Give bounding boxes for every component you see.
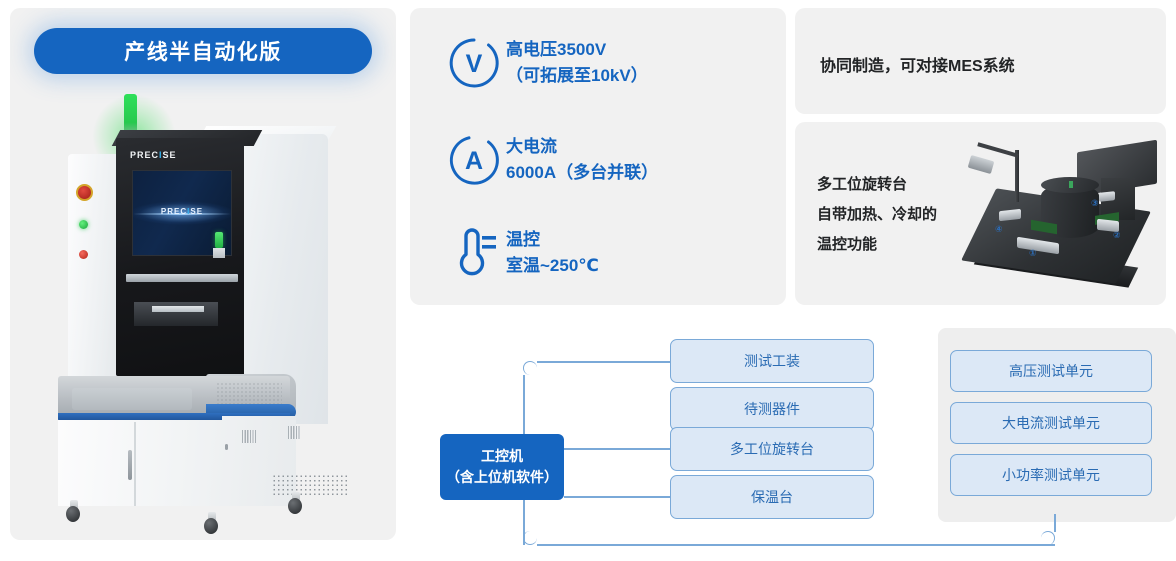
machine-inner-stage (134, 302, 218, 326)
system-architecture-diagram: 工控机 （含上位机软件） 测试工装 待测器件 多工位旋转台 保温台 高压测试单元… (420, 320, 1176, 561)
caster-wheel-disc (204, 518, 218, 534)
caster-wheel (288, 492, 302, 514)
spec-temp-line1: 温控 (506, 227, 599, 253)
node-low-power-unit[interactable]: 小功率测试单元 (950, 454, 1152, 496)
machine-illustration: PRECISE PRECISE (10, 86, 396, 540)
node-test-fixture[interactable]: 测试工装 (670, 339, 874, 383)
callout-4: ④ (995, 224, 1003, 235)
brand-text-top: PRECISE (130, 150, 177, 160)
node-root-line2: （含上位机软件） (446, 467, 558, 488)
spec-row-temperature: 温控 室温~250℃ (442, 226, 599, 280)
machine-brand-logo: PRECISE (130, 150, 177, 160)
product-title-banner: 产线半自动化版 (34, 28, 372, 74)
rotary-line3: 温控功能 (817, 230, 937, 260)
product-title: 产线半自动化版 (124, 36, 282, 66)
emergency-stop-button[interactable] (76, 184, 93, 201)
node-thermal-stage[interactable]: 保温台 (670, 475, 874, 519)
spec-text-temperature: 温控 室温~250℃ (506, 227, 599, 279)
rotary-stage-text: 多工位旋转台 自带加热、冷却的 温控功能 (817, 170, 937, 260)
wire-branch-units (537, 544, 1055, 546)
cabinet-door-seam (134, 422, 136, 506)
spec-row-voltage: V 高电压3500V （可拓展至10kV） (442, 36, 648, 90)
spec-text-voltage: 高电压3500V （可拓展至10kV） (506, 37, 648, 89)
test-fixture-3 (1099, 191, 1115, 202)
wire-corner-units (1041, 531, 1055, 545)
screen-brand-text: PRECISE (133, 207, 231, 216)
ammeter-circle-a-icon: A (442, 133, 506, 187)
thermometer-icon (442, 226, 506, 280)
cabinet-door-handle[interactable] (128, 450, 132, 480)
mes-text: 协同制造，可对接MES系统 (820, 52, 1015, 76)
product-panel: 产线半自动化版 PRECISE PRECISE (10, 8, 396, 540)
camera-arm-top (977, 142, 1018, 157)
infographic-root: 产线半自动化版 PRECISE PRECISE (0, 0, 1176, 561)
machine-slot-bar (126, 274, 238, 282)
svg-text:A: A (465, 147, 483, 175)
wire-corner-bottom (523, 531, 537, 545)
node-hv-test-unit[interactable]: 高压测试单元 (950, 350, 1152, 392)
status-lamp-red (79, 250, 88, 259)
drum-marker (1069, 181, 1073, 188)
wire-units-riser (1054, 514, 1056, 532)
cabinet-vent-b (288, 426, 300, 439)
caster-wheel-disc (66, 506, 80, 522)
camera-head-icon (968, 155, 995, 174)
spec-voltage-line2: （可拓展至10kV） (506, 63, 648, 89)
node-rotary-stage[interactable]: 多工位旋转台 (670, 427, 874, 471)
wire-branch-thermal (564, 496, 670, 498)
spec-current-line2: 6000A（多台并联） (506, 160, 658, 186)
callout-1: ① (1029, 248, 1037, 259)
node-root-line1: 工控机 (481, 446, 523, 467)
mes-panel: 协同制造，可对接MES系统 (795, 8, 1166, 114)
rotary-stage-panel: 多工位旋转台 自带加热、冷却的 温控功能 ① ② ③ ④ (795, 122, 1166, 305)
side-indicator-lamp (215, 232, 223, 248)
wire-branch-fixture (537, 361, 670, 363)
spec-row-current: A 大电流 6000A（多台并联） (442, 133, 658, 187)
spec-temp-line2: 室温~250℃ (506, 253, 599, 279)
voltmeter-circle-v-icon: V (442, 36, 506, 90)
caster-wheel (66, 500, 80, 522)
cabinet-lock (225, 444, 228, 450)
machine-body-left (68, 154, 120, 376)
node-device-under-test[interactable]: 待测器件 (670, 387, 874, 431)
specifications-panel: V 高电压3500V （可拓展至10kV） A 大电流 6000A（多台并联） (410, 8, 786, 305)
cabinet-vent-a (242, 430, 256, 443)
status-lamp-green (79, 220, 88, 229)
callout-2: ② (1113, 230, 1121, 241)
side-indicator-base (213, 248, 225, 258)
cabinet-front (58, 420, 296, 506)
caster-wheel (204, 512, 218, 534)
rotary-line1: 多工位旋转台 (817, 170, 937, 200)
svg-text:V: V (466, 50, 483, 78)
rotary-line2: 自带加热、冷却的 (817, 200, 937, 230)
wire-branch-rotary (564, 448, 670, 450)
callout-3: ③ (1091, 198, 1099, 209)
spec-voltage-line1: 高电压3500V (506, 37, 648, 63)
spec-text-current: 大电流 6000A（多台并联） (506, 134, 658, 186)
caster-wheel-disc (288, 498, 302, 514)
shelf-vent (216, 382, 282, 404)
node-high-current-unit[interactable]: 大电流测试单元 (950, 402, 1152, 444)
wire-corner-top (523, 361, 537, 375)
machine-shelf-inset (72, 388, 192, 410)
rotary-stage-image: ① ② ③ ④ (955, 136, 1165, 296)
node-industrial-pc[interactable]: 工控机 （含上位机软件） (440, 434, 564, 500)
spec-current-line1: 大电流 (506, 134, 658, 160)
cabinet-vent-perforated (272, 474, 348, 498)
